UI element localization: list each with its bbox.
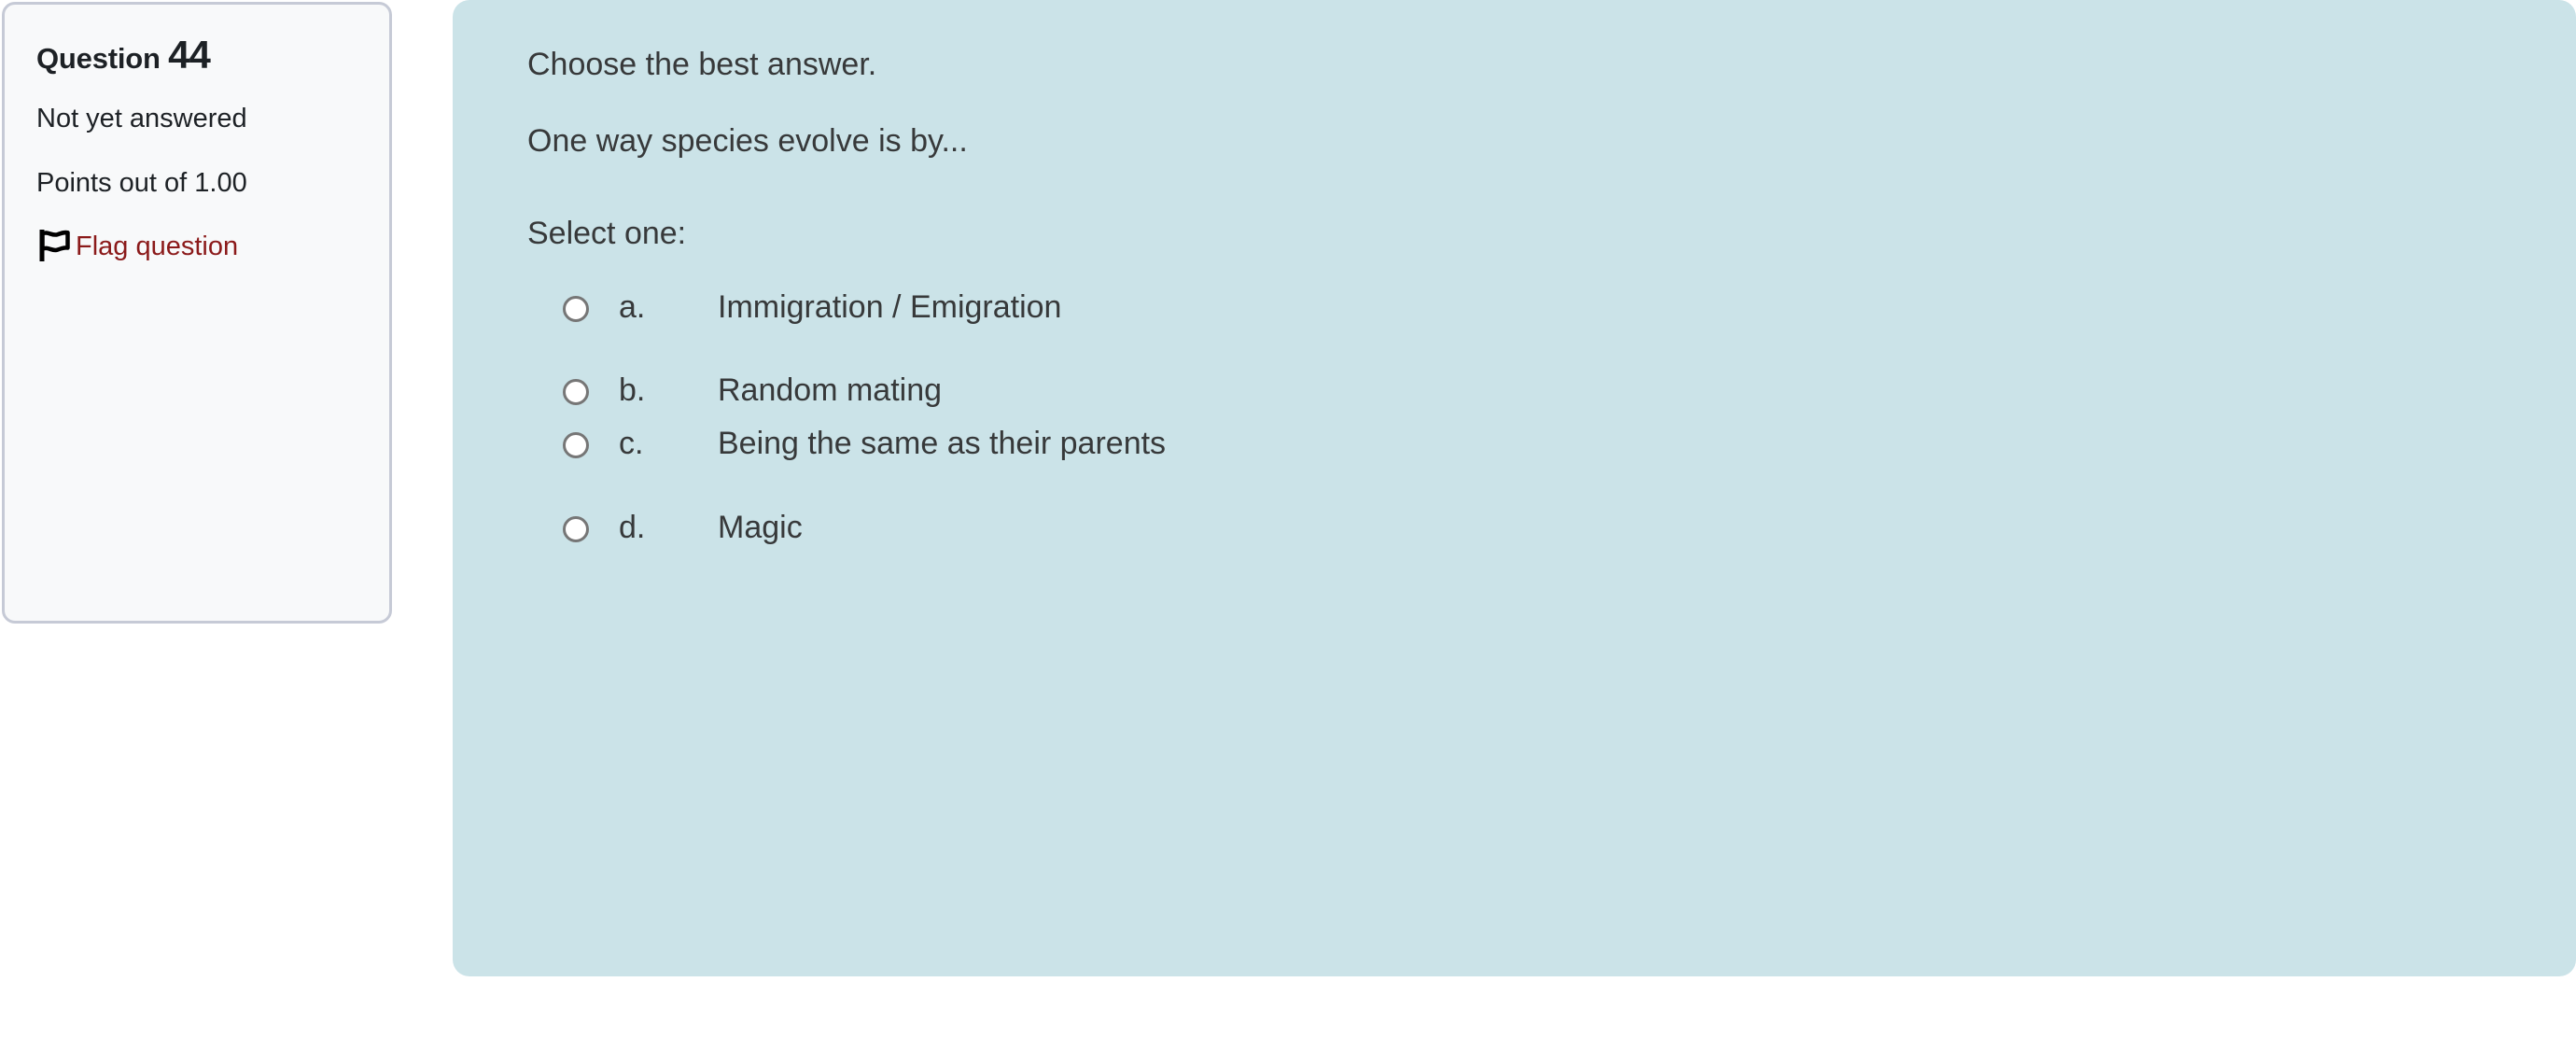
radio-button-c[interactable] xyxy=(563,432,589,458)
question-stem: One way species evolve is by... xyxy=(527,123,2576,160)
radio-button-d[interactable] xyxy=(563,516,589,542)
answer-option-d[interactable]: d. Magic xyxy=(563,510,2576,546)
question-state: Not yet answered xyxy=(36,100,270,138)
question-number: 44 xyxy=(168,33,210,77)
answer-text-b: Random mating xyxy=(718,372,942,409)
question-number-heading: Question 44 xyxy=(36,33,357,77)
flag-question-button[interactable]: Flag question xyxy=(36,228,298,266)
answer-text-d: Magic xyxy=(718,510,803,546)
question-points: Points out of 1.00 xyxy=(36,164,298,203)
flag-question-label: Flag question xyxy=(76,231,238,261)
answer-text-a: Immigration / Emigration xyxy=(718,289,1061,326)
flag-icon xyxy=(36,230,74,261)
answer-option-b[interactable]: b. Random mating xyxy=(563,372,2576,409)
answer-letter-b: b. xyxy=(619,372,718,409)
select-one-prompt: Select one: xyxy=(527,216,2576,252)
question-label: Question xyxy=(36,42,161,75)
answer-text-c: Being the same as their parents xyxy=(718,426,1166,462)
question-content-panel: Choose the best answer. One way species … xyxy=(453,0,2576,976)
answer-letter-c: c. xyxy=(619,426,718,462)
radio-button-b[interactable] xyxy=(563,379,589,405)
radio-button-a[interactable] xyxy=(563,296,589,322)
question-info-panel: Question 44 Not yet answered Points out … xyxy=(2,2,392,624)
answer-option-c[interactable]: c. Being the same as their parents xyxy=(563,426,2576,462)
answer-letter-a: a. xyxy=(619,289,718,326)
answer-options-list: a. Immigration / Emigration b. Random ma… xyxy=(527,289,2576,545)
answer-letter-d: d. xyxy=(619,510,718,546)
answer-option-a[interactable]: a. Immigration / Emigration xyxy=(563,289,2576,326)
question-instruction: Choose the best answer. xyxy=(527,47,2576,83)
